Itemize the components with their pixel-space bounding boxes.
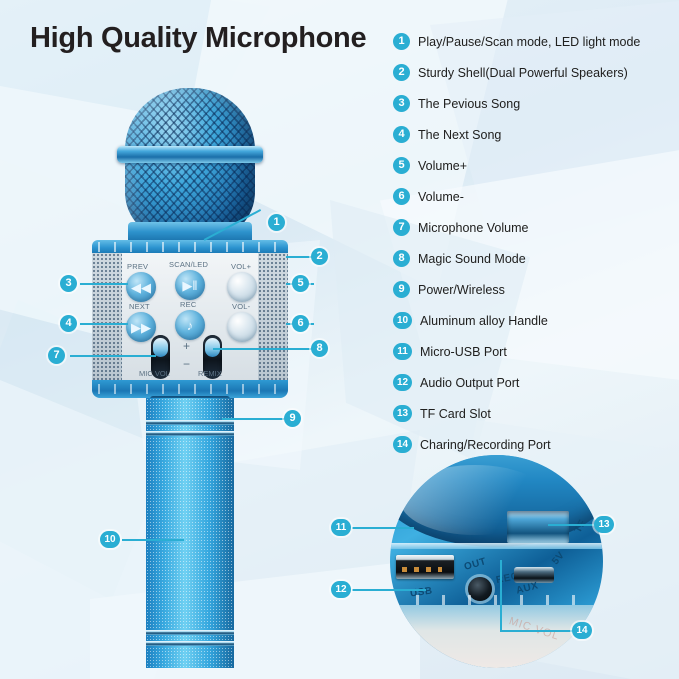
callout-6[interactable]: 6: [292, 315, 309, 332]
list-item: 2 Sturdy Shell(Dual Powerful Speakers): [393, 57, 679, 88]
leader-line: [286, 256, 314, 258]
legend-label: Micro-USB Port: [420, 345, 507, 359]
legend-badge: 10: [393, 312, 412, 329]
record-icon: ♪: [187, 319, 194, 332]
list-item: 11 Micro-USB Port: [393, 336, 679, 367]
leader-line: [122, 539, 184, 541]
legend-badge: 8: [393, 250, 410, 267]
volume-up-button[interactable]: [227, 272, 257, 302]
callout-2[interactable]: 2: [311, 248, 328, 265]
scan-led-button-caption: SCAN/LED: [169, 260, 208, 269]
leader-line: [500, 630, 574, 632]
leader-line: [80, 323, 128, 325]
five-volt-label: 5V: [550, 550, 567, 567]
list-item: 6 Volume-: [393, 181, 679, 212]
legend-label: Sturdy Shell(Dual Powerful Speakers): [418, 66, 628, 80]
usb-pins: [402, 567, 442, 572]
tf-card-slot: [507, 511, 569, 543]
legend-badge: 12: [393, 374, 412, 391]
list-item: 4 The Next Song: [393, 119, 679, 150]
leader-line: [500, 560, 502, 630]
leader-line: [70, 355, 156, 357]
volume-down-button-caption: VOL-: [232, 302, 250, 311]
list-item: 3 The Pevious Song: [393, 88, 679, 119]
body-bottom-ribs: [98, 384, 282, 394]
rec-button-caption: REC: [180, 300, 196, 309]
callout-11[interactable]: 11: [331, 519, 351, 536]
legend-badge: 2: [393, 64, 410, 81]
legend-label: Microphone Volume: [418, 221, 528, 235]
rec-button[interactable]: ♪: [175, 310, 205, 340]
callout-1[interactable]: 1: [268, 214, 285, 231]
list-item: 13 TF Card Slot: [393, 398, 679, 429]
leader-line: [352, 527, 414, 529]
mesh-band: [117, 146, 263, 163]
leader-line: [352, 589, 426, 591]
page-title: High Quality Microphone: [30, 22, 366, 55]
callout-5[interactable]: 5: [292, 275, 309, 292]
leader-line: [213, 348, 314, 350]
remix-slider-caption: REMIX: [198, 369, 222, 378]
mic-volume-slider-caption: MIC VOL: [139, 369, 170, 378]
port-detail-circle: TF USB OUT REC AUX 5V MIC VOL: [390, 455, 603, 668]
legend-label: TF Card Slot: [420, 407, 491, 421]
legend-badge: 5: [393, 157, 410, 174]
leader-line: [548, 524, 596, 526]
next-button[interactable]: ▶▶: [126, 312, 156, 342]
volume-up-button-caption: VOL+: [231, 262, 251, 271]
callout-7[interactable]: 7: [48, 347, 65, 364]
handle-ring: [146, 641, 234, 646]
aluminum-handle: [146, 398, 234, 668]
next-button-caption: NEXT: [129, 302, 150, 311]
speaker-grille-left: [92, 253, 122, 382]
callout-14[interactable]: 14: [572, 622, 592, 639]
legend-label: Charing/Recording Port: [420, 438, 551, 452]
legend-badge: 7: [393, 219, 410, 236]
legend-label: Volume-: [418, 190, 464, 204]
prev-button[interactable]: ◀◀: [126, 272, 156, 302]
next-icon: ▶▶: [131, 321, 151, 334]
callout-4[interactable]: 4: [60, 315, 77, 332]
handle-ring: [146, 420, 234, 425]
legend-badge: 13: [393, 405, 412, 422]
leader-line: [222, 418, 284, 420]
list-item: 10 Aluminum alloy Handle: [393, 305, 679, 336]
legend-label: Play/Pause/Scan mode, LED light mode: [418, 35, 640, 49]
legend-label: The Next Song: [418, 128, 501, 142]
legend-badge: 1: [393, 33, 410, 50]
play-pause-icon: ▶‖: [182, 279, 197, 292]
handle-ring: [146, 630, 234, 635]
detail-chrome-band: [390, 543, 603, 549]
legend-label: Power/Wireless: [418, 283, 505, 297]
volume-down-button[interactable]: [227, 312, 257, 342]
callout-3[interactable]: 3: [60, 275, 77, 292]
list-item: 8 Magic Sound Mode: [393, 243, 679, 274]
callout-13[interactable]: 13: [594, 516, 614, 533]
legend-label: Audio Output Port: [420, 376, 519, 390]
plus-label: +: [183, 340, 190, 352]
legend-label: Aluminum alloy Handle: [420, 314, 548, 328]
list-item: 7 Microphone Volume: [393, 212, 679, 243]
list-item: 9 Power/Wireless: [393, 274, 679, 305]
legend-badge: 4: [393, 126, 410, 143]
leader-line: [80, 283, 128, 285]
legend-badge: 6: [393, 188, 410, 205]
callout-10[interactable]: 10: [100, 531, 120, 548]
list-item: 12 Audio Output Port: [393, 367, 679, 398]
callout-8[interactable]: 8: [311, 340, 328, 357]
list-item: 5 Volume+: [393, 150, 679, 181]
legend-label: Volume+: [418, 159, 467, 173]
body-top-ribs: [98, 242, 282, 252]
callout-9[interactable]: 9: [284, 410, 301, 427]
handle-ring: [146, 431, 234, 436]
feature-legend-list: 1 Play/Pause/Scan mode, LED light mode 2…: [393, 26, 679, 460]
out-label: OUT: [463, 556, 488, 573]
minus-label: −: [183, 358, 190, 370]
microphone-mesh-head: [125, 88, 255, 240]
infographic-canvas: High Quality Microphone 1 Play/Pause/Sca…: [0, 0, 679, 679]
list-item: 1 Play/Pause/Scan mode, LED light mode: [393, 26, 679, 57]
legend-badge: 11: [393, 343, 412, 360]
legend-badge: 3: [393, 95, 410, 112]
legend-badge: 14: [393, 436, 412, 453]
prev-button-caption: PREV: [127, 262, 148, 271]
callout-12[interactable]: 12: [331, 581, 351, 598]
speaker-grille-right: [258, 253, 288, 382]
legend-label: The Pevious Song: [418, 97, 520, 111]
scan-led-button[interactable]: ▶‖: [175, 270, 205, 300]
detail-handle-bottom: [390, 605, 603, 668]
legend-label: Magic Sound Mode: [418, 252, 526, 266]
legend-badge: 9: [393, 281, 410, 298]
prev-icon: ◀◀: [131, 281, 151, 294]
